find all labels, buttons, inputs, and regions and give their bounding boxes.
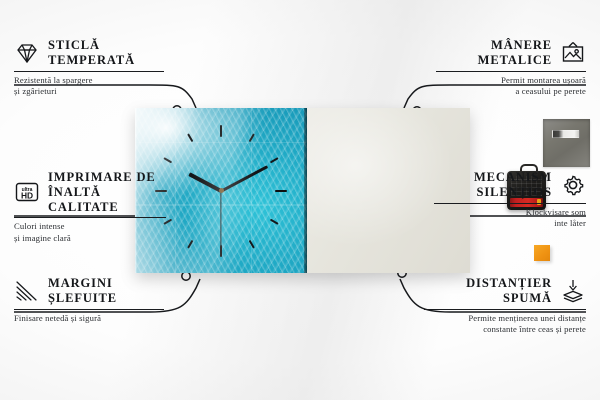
svg-text:HD: HD — [21, 191, 33, 201]
feature-sub-line2: inte låter — [434, 218, 586, 230]
callout-divider — [436, 71, 586, 72]
feature-sub-line1: Culori intense — [14, 221, 166, 233]
gear-icon — [560, 172, 586, 198]
ultra-hd-icon: ultra HD — [14, 179, 40, 205]
clock-hour-hand — [188, 172, 222, 192]
feature-title-line1: MARGINI — [48, 276, 117, 291]
callout-divider — [14, 309, 164, 310]
callout-divider — [14, 71, 164, 72]
callout-divider — [14, 217, 166, 218]
feature-sub-line1: Finisare netedă și sigură — [14, 313, 164, 325]
polished-edge-icon — [14, 278, 40, 304]
clock-second-hand — [220, 191, 221, 247]
feature-callout-foam-spacer[interactable]: DISTANȚIER SPUMĂ Permite menținerea unei… — [424, 276, 586, 336]
foam-spacer — [534, 245, 550, 261]
hanger-keyhole-slot — [552, 130, 580, 138]
feature-callout-metal-hangers[interactable]: MÂNERE METALICE Permit montarea ușoară a… — [436, 38, 586, 98]
callout-divider — [424, 309, 586, 310]
feature-sub-line1: Permite menținerea unei distanțe — [424, 313, 586, 325]
feature-title-line2: SPUMĂ — [466, 291, 552, 306]
feature-title-line1: MECANISM — [474, 170, 552, 185]
feature-sub-line1: Klockvisare som — [434, 207, 586, 219]
feature-callout-print-quality[interactable]: ultra HD IMPRIMARE DE ÎNALTĂ CALITATE Cu… — [14, 170, 166, 244]
infographic-canvas: STICLĂ TEMPERATĂ Rezistentă la spargere … — [0, 0, 600, 400]
feature-sub-line1: Permit montarea ușoară — [436, 75, 586, 87]
feature-title-line2: ȘLEFUITE — [48, 291, 117, 306]
metal-hanger-plate — [543, 119, 590, 167]
feature-sub-line2: a ceasului pe perete — [436, 86, 586, 98]
feature-sub-line1: Rezistentă la spargere — [14, 75, 164, 87]
feature-title-line1: DISTANȚIER — [466, 276, 552, 291]
feature-sub-line2: constante între ceas și perete — [424, 324, 586, 336]
feature-title-line2: METALICE — [478, 53, 552, 68]
feature-sub-line2: și imagine clară — [14, 233, 166, 245]
feature-title-line1: MÂNERE — [478, 38, 552, 53]
feature-title-line2: TEMPERATĂ — [48, 53, 135, 68]
feature-callout-silent-mechanism[interactable]: MECANISM SILENȚIOS Klockvisare som inte … — [434, 170, 586, 230]
leader-dot-margini — [182, 272, 190, 280]
hanging-frame-icon — [560, 40, 586, 66]
foam-spacer-icon — [560, 278, 586, 304]
callout-divider — [434, 203, 586, 204]
clock-center-hub — [219, 188, 224, 193]
feature-callout-tempered-glass[interactable]: STICLĂ TEMPERATĂ Rezistentă la spargere … — [14, 38, 164, 98]
feature-title-line2: ÎNALTĂ CALITATE — [48, 185, 166, 215]
feature-title-line1: IMPRIMARE DE — [48, 170, 166, 185]
feature-callout-polished-edges[interactable]: MARGINI ȘLEFUITE Finisare netedă și sigu… — [14, 276, 164, 324]
feature-title-line1: STICLĂ — [48, 38, 135, 53]
feature-title-line2: SILENȚIOS — [474, 185, 552, 200]
feature-sub-line2: și zgârieturi — [14, 86, 164, 98]
clock-minute-hand — [220, 165, 267, 192]
product-photo — [135, 108, 470, 273]
diamond-icon — [14, 40, 40, 66]
